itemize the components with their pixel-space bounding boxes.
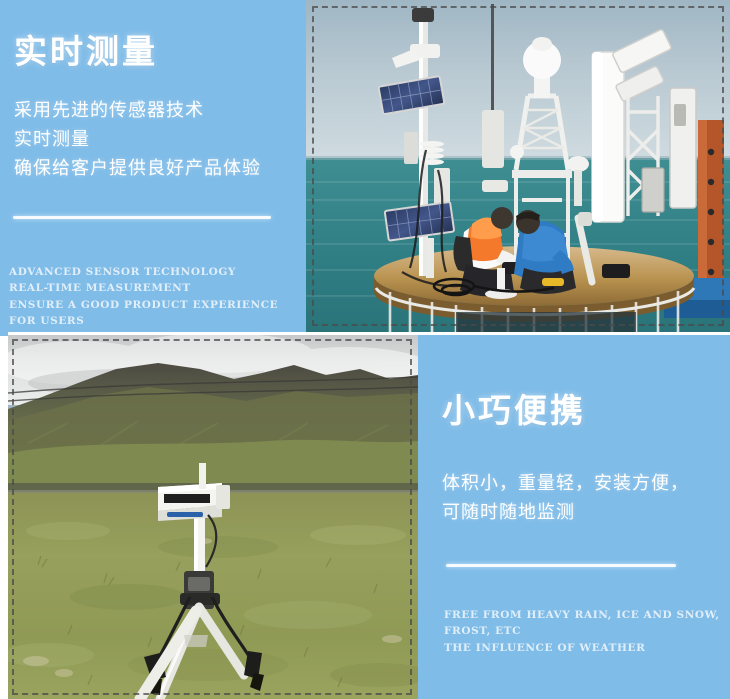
panel-measurement-english: ADVANCED SENSOR TECHNOLOGY REAL-TIME MEA… [9, 264, 299, 329]
panel-measurement-divider [13, 216, 271, 219]
panel-measurement-title: 实时测量 [14, 33, 158, 71]
portable-station-illustration [8, 335, 418, 699]
panel-real-time-measurement: 实时测量 采用先进的传感器技术 实时测量 确保给客户提供良好产品体验 ADVAN… [0, 0, 306, 332]
panel-portable-english-line-2: THE INFLUENCE OF WEATHER [444, 640, 729, 656]
panel-measurement-body-line-2: 实时测量 [14, 126, 299, 155]
panel-portable-english: FREE FROM HEAVY RAIN, ICE AND SNOW, FROS… [444, 607, 729, 656]
seam-left [0, 332, 8, 336]
panel-portable-body-line-1: 体积小，重量轻，安装方便， [442, 470, 724, 499]
panel-portable-body-line-2: 可随时随地监测 [442, 499, 724, 528]
panel-measurement-english-line-2: REAL-TIME MEASUREMENT [9, 280, 299, 296]
panel-measurement-english-line-3: ENSURE A GOOD PRODUCT EXPERIENCE FOR USE… [9, 297, 299, 330]
panel-measurement-body-line-3: 确保给客户提供良好产品体验 [14, 155, 299, 184]
panel-portable-title: 小巧便携 [442, 392, 586, 430]
panel-portable-body: 体积小，重量轻，安装方便， 可随时随地监测 [442, 470, 724, 528]
panel-measurement-english-line-1: ADVANCED SENSOR TECHNOLOGY [9, 264, 299, 280]
promo-page: 实时测量 采用先进的传感器技术 实时测量 确保给客户提供良好产品体验 ADVAN… [0, 0, 730, 699]
panel-measurement-body-line-1: 采用先进的传感器技术 [14, 97, 299, 126]
offshore-station-illustration [306, 0, 730, 332]
photo-portable-weather-station [8, 335, 418, 699]
panel-compact-portable: 小巧便携 体积小，重量轻，安装方便， 可随时随地监测 FREE FROM HEA… [418, 335, 730, 699]
panel-portable-english-line-1: FREE FROM HEAVY RAIN, ICE AND SNOW, FROS… [444, 607, 729, 640]
panel-measurement-body: 采用先进的传感器技术 实时测量 确保给客户提供良好产品体验 [14, 97, 299, 183]
photo-offshore-weather-station [306, 0, 730, 332]
panel-portable-divider [446, 564, 676, 567]
